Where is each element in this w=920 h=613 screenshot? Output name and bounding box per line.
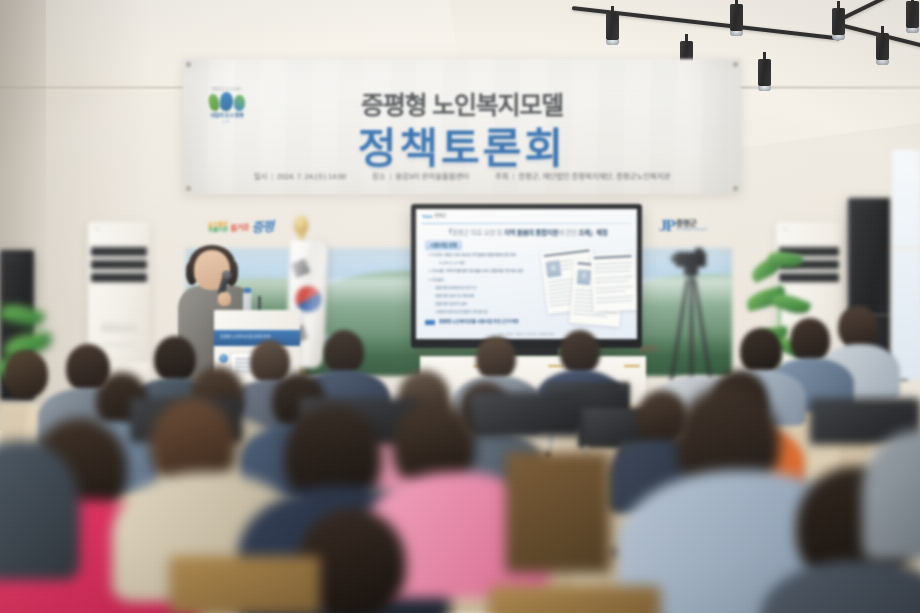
event-banner: 대한민국 도시브랜드 내일의 도시 증평 JP 증평형 노인복지모델 정책토론회… [183,59,741,194]
jp-english-label: Jeungpyeong-gun [676,228,708,232]
slide-bullet: - 통합지원 운영체계 및 추진기구 [428,286,540,291]
slide-source-note: 출처 : 증평군 · 증평군 노인복지관 · 증평복지재단 [416,332,637,336]
ac-brand-left: LG [94,226,100,231]
slide-bullet: ㅇ 주요골자 [428,278,540,283]
chair [470,392,582,436]
slide-bullet: - 통합지원 전담조직 설치 [428,302,540,307]
chair-wood-back [490,586,660,613]
slide-bullet-list: ㅇ 조 례 명 : 증평군 의료·요양 등 지역 돌봄의 통합지원에 관한 조례… [428,253,540,315]
banner-host: 주최 | 증평군, 재단법인 증평복지재단, 증평군노인복지관 [495,171,670,182]
banner-date: 일시 | 2024. 7. 24.(수) 14:00 [254,171,346,182]
slide-bullet: - 통합지원 대상자 및 지원 범위 [428,294,540,299]
slide-news-clipping [591,252,637,312]
chair-wood-back [170,556,320,613]
banner-meta-row: 일시 | 2024. 7. 24.(수) 14:00 장소 | 용강3리 온마을… [209,171,715,182]
slide-footer-marker-icon [425,320,435,325]
presenter-hand [218,292,231,306]
slide-logo-b: 증평군 [434,213,446,219]
banner-title-line2: 정책토론회 [183,115,741,176]
slide-bullet: ㅇ 조 례 명 : 증평군 의료·요양 등 지역 돌봄의 통합지원에 관한 조례 [428,253,540,258]
camera-viewfinder-icon [695,248,703,253]
slide-divider [422,223,631,224]
slide-logo-a: Town [422,214,432,219]
wall-logo-left-word-c: 증평 [251,215,274,235]
flag-finial-icon [294,216,308,234]
tripod-head [684,266,698,276]
window-right [890,150,920,380]
podium-emblem-icon [219,354,228,363]
wall-logo-jp-jeungpyeong: JP 증평군 Jeungpyeong-gun [659,213,721,239]
slide-bullet: ㅇ 주요내용 : 지역거주를 위한 의료·돌봄 서비스 통합지원 기반 제도 마… [428,269,540,274]
jp-monogram-icon: JP [659,216,674,236]
slide-section-tag: 시범사업 선정 [425,240,462,250]
slide-bullet: - 사례관리 회의 및 민관협력 구축 방안 등 [428,310,540,315]
wall-logo-left-line-b: 아름다운 [208,228,229,235]
banner-place: 장소 | 용강3리 온마을돌봄센터 [372,171,469,182]
presentation-slide: Town 증평군 「증평군 의료·요양 등 지역 돌봄의 통합지원에 관한 조례… [416,209,637,339]
slide-bullet: ※ 2024. 5. 14. 제정 [428,261,540,266]
camcorder-icon [676,252,706,267]
ac-brand-right: LG [782,226,788,231]
camera-lens-icon [671,254,680,263]
photo-scene: 대한민국 도시브랜드 내일의 도시 증평 JP 증평형 노인복지모델 정책토론회… [0,0,920,613]
wall-logo-jeungpyeong-calligraphy: 살기좋은 아름다운 즐거운 증평 [207,212,277,243]
slide-footer-text: 증평형 노인복지모델 시범사업 추진 근거 마련 [439,319,518,325]
podium-strip-text: 증평형 노인복지모델 정책토론회 [220,334,271,340]
slide-logo: Town 증평군 [422,213,446,219]
wall-logo-left-word-a: 즐거운 [230,221,250,233]
chair-wood-back [506,452,610,572]
slide-title: 「증평군 의료·요양 등 지역 돌봄의 통합지원에 관한 조례」제정 [424,227,629,237]
cabinet-handle-icon [624,365,640,367]
presentation-display: Town 증평군 「증평군 의료·요양 등 지역 돌봄의 통합지원에 관한 조례… [411,204,642,348]
slide-footer: 증평형 노인복지모델 시범사업 추진 근거 마련 [425,319,628,325]
